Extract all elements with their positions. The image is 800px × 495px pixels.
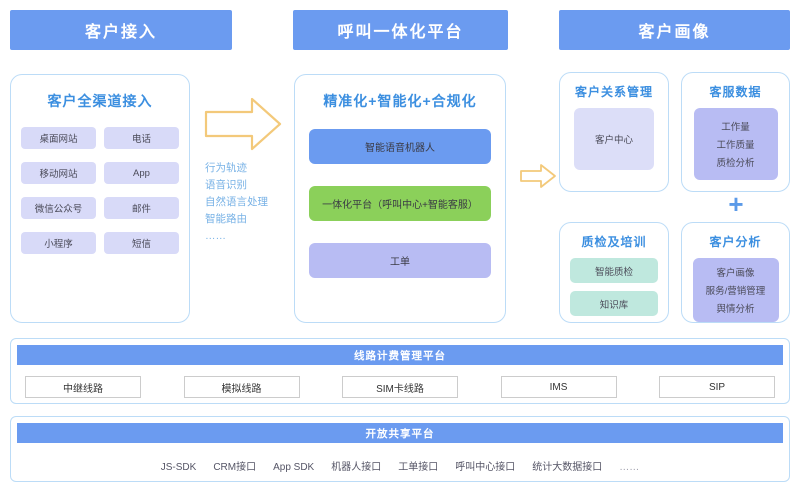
card-quality-training: 质检及培训 智能质检 知识库 (559, 222, 669, 323)
crm-item: 客户中心 (595, 132, 633, 146)
channel-chip[interactable]: App (104, 162, 179, 184)
api-item-ellipsis: …… (619, 462, 639, 473)
card-title-integrated-platform: 精准化+智能化+合规化 (295, 91, 505, 111)
channel-chip[interactable]: 电话 (104, 127, 179, 149)
capability-list: 行为轨迹 语音识别 自然语言处理 智能路由 …… (205, 160, 285, 245)
card-service-data: 客服数据 工作量 工作质量 质检分析 (681, 72, 790, 192)
column-header-call-platform: 呼叫一体化平台 (293, 10, 508, 50)
analysis-item: 服务/营销管理 (706, 283, 766, 297)
band-line-billing-platform: 线路计费管理平台 中继线路 模拟线路 SIM卡线路 IMS SIP (10, 338, 790, 404)
capability-item: 智能路由 (205, 211, 285, 228)
line-type-chip[interactable]: IMS (501, 376, 617, 398)
api-item[interactable]: 呼叫中心接口 (455, 458, 515, 473)
quality-chip-stack: 智能质检 知识库 (570, 258, 658, 316)
line-type-chip[interactable]: SIP (659, 376, 775, 398)
card-title-service-data: 客服数据 (682, 83, 789, 100)
channel-chip[interactable]: 小程序 (21, 232, 96, 254)
column-header-customer-access: 客户接入 (10, 10, 232, 50)
channel-chip-grid: 桌面网站 电话 移动网站 App 微信公众号 邮件 小程序 短信 (21, 127, 179, 254)
service-data-item: 质检分析 (716, 155, 754, 169)
channel-chip[interactable]: 邮件 (104, 197, 179, 219)
band-title-open-platform: 开放共享平台 (17, 423, 783, 443)
line-type-chip[interactable]: 中继线路 (25, 376, 141, 398)
card-customer-analysis: 客户分析 客户画像 服务/营销管理 舆情分析 (681, 222, 790, 323)
channel-chip[interactable]: 微信公众号 (21, 197, 96, 219)
api-item[interactable]: JS-SDK (161, 462, 197, 473)
service-data-inner-box[interactable]: 工作量 工作质量 质检分析 (694, 108, 778, 180)
analysis-item: 舆情分析 (716, 301, 754, 315)
card-omnichannel-access: 客户全渠道接入 桌面网站 电话 移动网站 App 微信公众号 邮件 小程序 短信 (10, 74, 190, 323)
plus-icon: + (726, 194, 746, 214)
band-title-line-billing: 线路计费管理平台 (17, 345, 783, 365)
diagram-canvas: 客户接入 呼叫一体化平台 客户画像 客户全渠道接入 桌面网站 电话 移动网站 A… (0, 0, 800, 495)
card-title-customer-analysis: 客户分析 (682, 233, 789, 250)
quality-chip[interactable]: 智能质检 (570, 258, 658, 283)
card-title-quality-training: 质检及培训 (560, 233, 668, 250)
api-item[interactable]: 工单接口 (398, 458, 438, 473)
customer-analysis-inner-box[interactable]: 客户画像 服务/营销管理 舆情分析 (693, 258, 779, 322)
api-item[interactable]: App SDK (273, 462, 314, 473)
analysis-item: 客户画像 (716, 265, 754, 279)
card-customer-relationship: 客户关系管理 客户中心 (559, 72, 669, 192)
capability-item: 语音识别 (205, 177, 285, 194)
line-type-chip[interactable]: 模拟线路 (184, 376, 300, 398)
platform-module-stack: 智能语音机器人 一体化平台（呼叫中心+智能客服） 工单 (309, 129, 491, 278)
service-data-item: 工作量 (721, 119, 750, 133)
platform-module-voice-robot[interactable]: 智能语音机器人 (309, 129, 491, 164)
api-list-row: JS-SDK CRM接口 App SDK 机器人接口 工单接口 呼叫中心接口 统… (11, 458, 789, 473)
crm-inner-box[interactable]: 客户中心 (574, 108, 654, 170)
line-type-chip-row: 中继线路 模拟线路 SIM卡线路 IMS SIP (25, 376, 775, 398)
arrow-right-icon-small (519, 163, 557, 189)
channel-chip[interactable]: 短信 (104, 232, 179, 254)
card-title-crm: 客户关系管理 (560, 83, 668, 100)
api-item[interactable]: 机器人接口 (331, 458, 381, 473)
card-title-omnichannel: 客户全渠道接入 (11, 91, 189, 111)
column-header-customer-profile: 客户画像 (559, 10, 790, 50)
quality-chip[interactable]: 知识库 (570, 291, 658, 316)
platform-module-integrated[interactable]: 一体化平台（呼叫中心+智能客服） (309, 186, 491, 221)
api-item[interactable]: 统计大数据接口 (532, 458, 602, 473)
service-data-item: 工作质量 (716, 137, 754, 151)
capability-item: 行为轨迹 (205, 160, 285, 177)
channel-chip[interactable]: 移动网站 (21, 162, 96, 184)
arrow-right-icon-large (204, 96, 282, 152)
api-item[interactable]: CRM接口 (213, 458, 256, 473)
platform-module-ticket[interactable]: 工单 (309, 243, 491, 278)
line-type-chip[interactable]: SIM卡线路 (342, 376, 458, 398)
capability-item: 自然语言处理 (205, 194, 285, 211)
capability-item-ellipsis: …… (205, 228, 285, 245)
card-integrated-platform: 精准化+智能化+合规化 智能语音机器人 一体化平台（呼叫中心+智能客服） 工单 (294, 74, 506, 323)
channel-chip[interactable]: 桌面网站 (21, 127, 96, 149)
band-open-platform: 开放共享平台 JS-SDK CRM接口 App SDK 机器人接口 工单接口 呼… (10, 416, 790, 482)
